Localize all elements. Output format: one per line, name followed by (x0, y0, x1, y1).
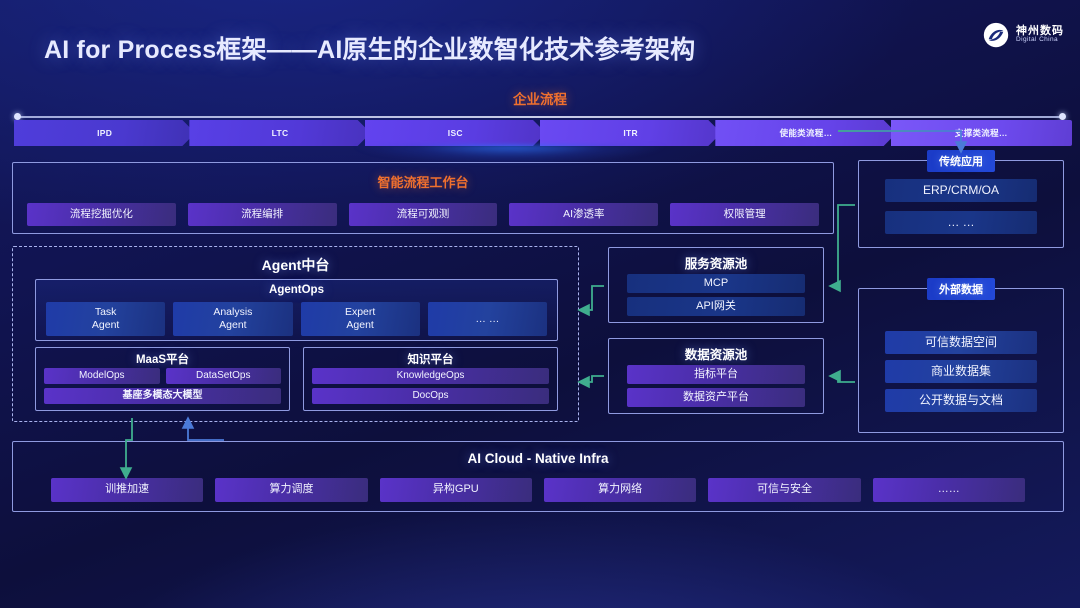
workbench-item-3[interactable]: 流程可观测 (349, 203, 498, 226)
external-data-row-1: 可信数据空间 (885, 331, 1037, 354)
agentops-item-1[interactable]: TaskAgent (46, 302, 165, 336)
agentops-item-row: TaskAgentAnalysisAgentExpertAgent… … (46, 302, 547, 336)
workbench-item-2[interactable]: 流程编排 (188, 203, 337, 226)
process-rail-dot-right (1059, 113, 1066, 120)
docops-item[interactable]: DocOps (312, 388, 549, 404)
data-pool-row-2: 数据资产平台 (627, 388, 805, 407)
external-data-row-3: 公开数据与文档 (885, 389, 1037, 412)
legacy-applications-panel: 传统应用 ERP/CRM/OA … … (858, 160, 1064, 248)
agentops-item-2[interactable]: AnalysisAgent (173, 302, 292, 336)
process-step-4[interactable]: ITR (540, 120, 721, 146)
agentops-item-line2: Agent (346, 319, 373, 332)
data-pool-item-metrics-platform[interactable]: 指标平台 (627, 365, 805, 384)
process-step-2[interactable]: LTC (189, 120, 370, 146)
process-rail-line (18, 116, 1062, 118)
process-step-label: LTC (272, 128, 289, 138)
agentops-panel: AgentOps TaskAgentAnalysisAgentExpertAge… (35, 279, 558, 341)
maas-item-2[interactable]: DataSetOps (166, 368, 282, 384)
agentops-item-line1: … … (475, 313, 499, 326)
infra-item-3[interactable]: 异构GPU (380, 478, 532, 502)
infra-item-1[interactable]: 训推加速 (51, 478, 203, 502)
maas-title: MaaS平台 (36, 351, 289, 367)
agentops-item-line1: Analysis (213, 306, 252, 319)
external-data-item-commercial-dataset[interactable]: 商业数据集 (885, 360, 1037, 383)
agentops-item-line2: Agent (219, 319, 246, 332)
infra-item-6[interactable]: …… (873, 478, 1025, 502)
workbench-item-1[interactable]: 流程挖掘优化 (27, 203, 176, 226)
external-data-row-2: 商业数据集 (885, 360, 1037, 383)
process-step-3[interactable]: ISC (365, 120, 546, 146)
digital-china-swirl-icon (983, 22, 1009, 48)
brand-logo: 神州数码 Digital China (983, 22, 1064, 48)
maas-foundation-model[interactable]: 基座多模态大模型 (44, 388, 281, 404)
service-pool-row-1: MCP (627, 274, 805, 293)
external-data-item-trusted-space[interactable]: 可信数据空间 (885, 331, 1037, 354)
knowledge-row-docops: DocOps (312, 388, 549, 404)
external-data-badge: 外部数据 (927, 278, 995, 300)
agent-platform-title: Agent中台 (13, 255, 578, 275)
legacy-item-more[interactable]: … … (885, 211, 1037, 234)
intelligent-process-workbench-panel: 智能流程工作台 流程挖掘优化流程编排流程可观测AI渗透率权限管理 (12, 162, 834, 234)
logo-text-en: Digital China (1016, 37, 1064, 44)
connector-external-to-data-pool (830, 376, 855, 382)
ai-cloud-native-infra-panel: AI Cloud - Native Infra 训推加速算力调度异构GPU算力网… (12, 441, 1064, 512)
service-resource-pool-panel: 服务资源池 MCP API网关 (608, 247, 824, 323)
legacy-row-1: ERP/CRM/OA (885, 179, 1037, 202)
workbench-title: 智能流程工作台 (13, 172, 833, 191)
service-pool-item-api-gateway[interactable]: API网关 (627, 297, 805, 316)
agentops-item-3[interactable]: ExpertAgent (301, 302, 420, 336)
workbench-item-4[interactable]: AI渗透率 (509, 203, 658, 226)
data-pool-row-1: 指标平台 (627, 365, 805, 384)
workbench-item-row: 流程挖掘优化流程编排流程可观测AI渗透率权限管理 (27, 203, 819, 226)
process-step-label: ISC (448, 128, 463, 138)
legacy-item-erp-crm-oa[interactable]: ERP/CRM/OA (885, 179, 1037, 202)
data-pool-item-data-asset-platform[interactable]: 数据资产平台 (627, 388, 805, 407)
service-pool-row-2: API网关 (627, 297, 805, 316)
infra-item-2[interactable]: 算力调度 (215, 478, 367, 502)
knowledge-platform-panel: 知识平台 KnowledgeOps DocOps (303, 347, 558, 411)
legacy-applications-badge: 传统应用 (927, 150, 995, 172)
workbench-item-5[interactable]: 权限管理 (670, 203, 819, 226)
process-step-1[interactable]: IPD (14, 120, 195, 146)
connector-data-pool-to-knowledge (579, 376, 604, 382)
infra-item-4[interactable]: 算力网络 (544, 478, 696, 502)
process-step-6[interactable]: 支撑类流程… (891, 120, 1072, 146)
process-step-label: IPD (97, 128, 112, 138)
infra-title: AI Cloud - Native Infra (13, 451, 1063, 466)
external-data-item-public-data-docs[interactable]: 公开数据与文档 (885, 389, 1037, 412)
data-pool-title: 数据资源池 (609, 344, 823, 363)
process-band-title: 企业流程 (0, 88, 1080, 108)
connector-service-pool-to-agentops (579, 286, 604, 310)
maas-ops-row: ModelOpsDataSetOps (44, 368, 281, 384)
maas-item-1[interactable]: ModelOps (44, 368, 160, 384)
knowledgeops-item[interactable]: KnowledgeOps (312, 368, 549, 384)
agentops-item-line1: Task (95, 306, 117, 319)
data-resource-pool-panel: 数据资源池 指标平台 数据资产平台 (608, 338, 824, 414)
page-title: AI for Process框架——AI原生的企业数智化技术参考架构 (44, 30, 695, 66)
process-step-label: ITR (623, 128, 638, 138)
knowledge-row-knowledgeops: KnowledgeOps (312, 368, 549, 384)
process-step-label: 使能类流程… (780, 127, 833, 139)
process-step-label: 支撑类流程… (955, 127, 1008, 139)
service-pool-item-mcp[interactable]: MCP (627, 274, 805, 293)
infra-item-row: 训推加速算力调度异构GPU算力网络可信与安全…… (51, 478, 1025, 502)
agentops-item-4[interactable]: … … (428, 302, 547, 336)
external-data-panel: 外部数据 可信数据空间 商业数据集 公开数据与文档 (858, 288, 1064, 433)
process-rail-dot-left (14, 113, 21, 120)
legacy-row-2: … … (885, 211, 1037, 234)
agentops-title: AgentOps (36, 284, 557, 296)
service-pool-title: 服务资源池 (609, 253, 823, 272)
agentops-item-line1: Expert (345, 306, 375, 319)
slide-canvas: AI for Process框架——AI原生的企业数智化技术参考架构 神州数码 … (0, 0, 1080, 608)
knowledge-platform-title: 知识平台 (304, 351, 557, 367)
maas-foundation-row: 基座多模态大模型 (44, 388, 281, 404)
agent-platform-panel: Agent中台 AgentOps TaskAgentAnalysisAgentE… (12, 246, 579, 422)
infra-item-5[interactable]: 可信与安全 (708, 478, 860, 502)
process-step-5[interactable]: 使能类流程… (715, 120, 896, 146)
agentops-item-line2: Agent (92, 319, 119, 332)
maas-platform-panel: MaaS平台 ModelOpsDataSetOps 基座多模态大模型 (35, 347, 290, 411)
process-rail (14, 113, 1066, 120)
process-chevron-bar: IPDLTCISCITR使能类流程…支撑类流程… (14, 120, 1066, 146)
